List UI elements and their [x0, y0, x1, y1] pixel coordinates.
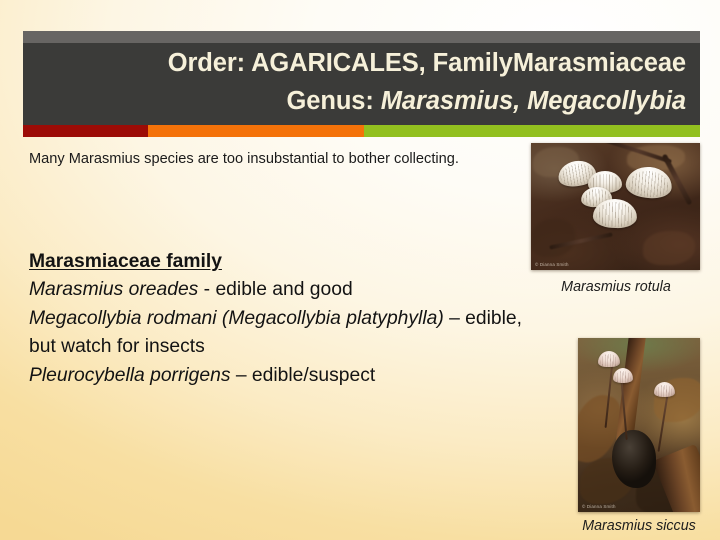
title-panel: Order: AGARICALES, FamilyMarasmiaceae Ge… — [23, 43, 700, 125]
family-text-block: Marasmiaceae family Marasmius oreades - … — [29, 248, 609, 390]
title-line-1: Order: AGARICALES, FamilyMarasmiaceae — [168, 49, 686, 77]
species-note-4: – edible/suspect — [231, 365, 376, 386]
accent-bar — [23, 125, 700, 137]
photo-marasmius-rotula-frame: © Dianna Smith — [531, 143, 700, 270]
intro-text: Many Marasmius species are too insubstan… — [29, 149, 529, 169]
leaf-litter — [643, 231, 695, 265]
photo-marasmius-siccus: © Dianna Smith — [578, 338, 700, 512]
title-top-strip — [23, 31, 700, 43]
title-line-2: Genus: Marasmius, Megacollybia — [23, 82, 686, 120]
photo-caption-siccus: Marasmius siccus — [560, 518, 718, 534]
leaf-litter — [531, 219, 575, 257]
species-note-3: but watch for insects — [29, 336, 205, 357]
species-name-1: Marasmius oreades — [29, 279, 198, 300]
page-title: Order: AGARICALES, FamilyMarasmiaceae Ge… — [23, 44, 686, 120]
species-note-1: - edible and good — [198, 279, 352, 300]
photo-caption-rotula: Marasmius rotula — [521, 279, 711, 295]
species-name-2: Megacollybia rodmani (Megacollybia platy… — [29, 308, 444, 329]
title-line-2-genus: Marasmius, Megacollybia — [381, 87, 686, 115]
title-line-2-prefix: Genus: — [287, 87, 381, 115]
accent-segment-orange — [148, 125, 364, 137]
species-line-4: Pleurocybella porrigens – edible/suspect — [29, 362, 609, 390]
mushroom-cap — [598, 351, 620, 367]
accent-segment-green — [364, 125, 700, 137]
photo-credit: © Dianna Smith — [535, 262, 569, 267]
species-line-3: but watch for insects — [29, 333, 609, 361]
mushroom-cap — [613, 368, 633, 383]
photo-marasmius-siccus-frame: © Dianna Smith — [578, 338, 700, 512]
species-line-2: Megacollybia rodmani (Megacollybia platy… — [29, 305, 609, 333]
accent-segment-red — [23, 125, 148, 137]
title-block: Order: AGARICALES, FamilyMarasmiaceae Ge… — [23, 31, 700, 137]
species-note-2: – edible, — [444, 308, 522, 329]
photo-credit: © Dianna Smith — [582, 504, 616, 509]
species-name-4: Pleurocybella porrigens — [29, 365, 231, 386]
photo-marasmius-rotula: © Dianna Smith — [531, 143, 700, 270]
family-heading: Marasmiaceae family — [29, 248, 609, 276]
slide-canvas: Order: AGARICALES, FamilyMarasmiaceae Ge… — [0, 0, 720, 540]
dark-debris — [612, 430, 656, 488]
mushroom-cap — [654, 382, 675, 397]
